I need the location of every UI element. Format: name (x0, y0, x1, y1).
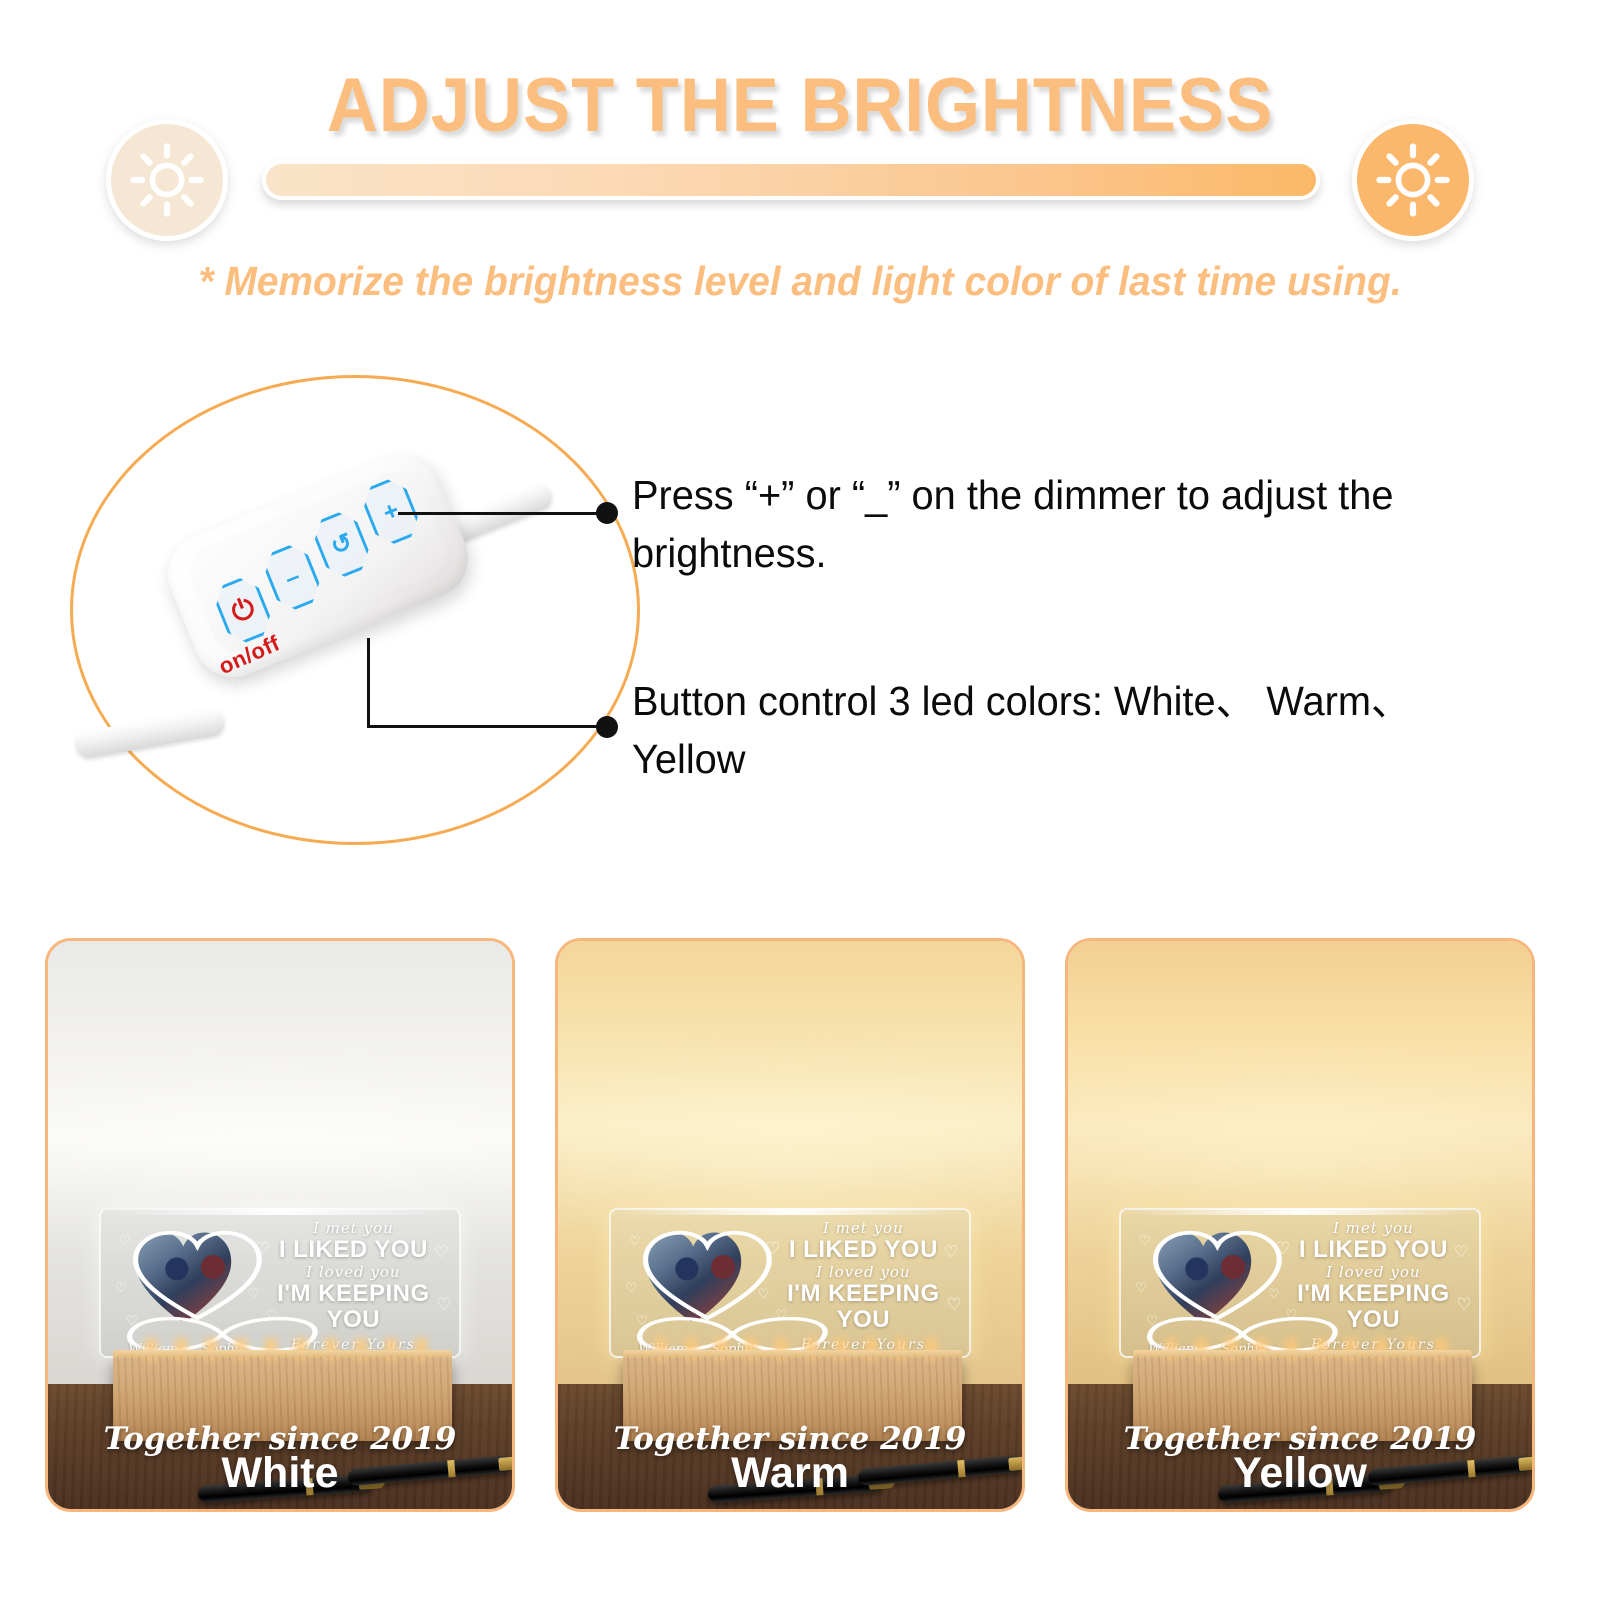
memory-note: * Memorize the brightness level and ligh… (40, 258, 1560, 305)
color-cycle-button[interactable]: ↺ (309, 507, 375, 582)
decor-heart-icon: ♡ (248, 1286, 260, 1302)
callout-ledcolors-text: Button control 3 led colors: White、 Warm… (632, 672, 1505, 788)
quote-line-3: I loved you (776, 1264, 951, 1281)
leader-line-color-horizontal (367, 725, 610, 728)
light-color-card-white[interactable]: ♡ ♡ ♡ ♡ ♡ ♡ ♡ ♡ William Sophie (45, 938, 515, 1512)
brightness-low-sun-icon (106, 119, 228, 241)
quote-line-1: I met you (776, 1220, 951, 1237)
plaque-quote: I met you I LIKED YOU I loved you I'M KE… (776, 1220, 951, 1349)
quote-line-2: I LIKED YOU (1286, 1237, 1461, 1263)
decor-heart-icon: ♡ (115, 1280, 127, 1296)
acrylic-plaque: ♡ ♡ ♡ ♡ ♡ ♡ ♡ ♡ William Sophie (609, 1208, 971, 1359)
acrylic-plaque: ♡ ♡ ♡ ♡ ♡ ♡ ♡ ♡ William Sophie (99, 1208, 461, 1359)
color-label-warm: Warm (558, 1449, 1022, 1498)
plaque-edge-glow (1128, 1208, 1472, 1215)
leader-line-plus (398, 512, 608, 515)
power-icon: ⏻ (228, 593, 259, 627)
color-cycle-icon: ↺ (327, 529, 356, 560)
quote-line-4: I'M KEEPING YOU (776, 1281, 951, 1334)
plaque-quote: I met you I LIKED YOU I loved you I'M KE… (266, 1220, 441, 1349)
quote-line-1: I met you (1286, 1220, 1461, 1237)
decor-heart-icon: ♡ (1139, 1233, 1151, 1249)
decor-heart-icon: ♡ (629, 1233, 641, 1249)
quote-line-2: I LIKED YOU (266, 1237, 441, 1263)
quote-line-1: I met you (266, 1220, 441, 1237)
light-color-card-warm[interactable]: ♡ ♡ ♡ ♡ ♡ ♡ ♡ ♡ William Sophie (555, 938, 1025, 1512)
page-title: ADJUST THE BRIGHTNESS (56, 62, 1544, 149)
cable-lower (74, 707, 226, 760)
header-section: ADJUST THE BRIGHTNESS (0, 0, 1600, 330)
plaque-edge-glow (108, 1208, 452, 1215)
decor-heart-icon: ♡ (119, 1233, 131, 1249)
dimmer-switch-photo: ⏻ – ↺ + on/off (95, 420, 555, 810)
product-photo-yellow: ♡ ♡ ♡ ♡ ♡ ♡ ♡ ♡ William Sophie (1068, 941, 1532, 1509)
brightness-slider[interactable] (262, 160, 1320, 200)
quote-line-3: I loved you (1286, 1264, 1461, 1281)
quote-line-4: I'M KEEPING YOU (1286, 1281, 1461, 1334)
plaque-quote: I met you I LIKED YOU I loved you I'M KE… (1286, 1220, 1461, 1349)
decor-heart-icon: ♡ (625, 1280, 637, 1296)
callout-brightness-text: Press “+” or “_” on the dimmer to adjust… (632, 466, 1505, 582)
minus-icon: – (281, 563, 303, 591)
quote-line-4: I'M KEEPING YOU (266, 1281, 441, 1334)
color-label-white: White (48, 1449, 512, 1498)
brightness-high-sun-icon (1352, 119, 1474, 241)
quote-line-3: I loved you (266, 1264, 441, 1281)
plaque-edge-glow (618, 1208, 962, 1215)
dimmer-switch-face: ⏻ – ↺ + on/off (181, 464, 453, 661)
light-color-gallery: ♡ ♡ ♡ ♡ ♡ ♡ ♡ ♡ William Sophie (0, 938, 1600, 1518)
infographic-page: ADJUST THE BRIGHTNESS (0, 0, 1600, 1600)
decor-heart-icon: ♡ (758, 1286, 770, 1302)
leader-line-color-vertical (367, 638, 370, 728)
quote-line-2: I LIKED YOU (776, 1237, 951, 1263)
leader-dot-plus (596, 502, 618, 524)
dimmer-section: ⏻ – ↺ + on/off (0, 360, 1600, 890)
dimmer-switch-body: ⏻ – ↺ + on/off (156, 443, 480, 689)
acrylic-plaque: ♡ ♡ ♡ ♡ ♡ ♡ ♡ ♡ William Sophie (1119, 1208, 1481, 1359)
light-color-card-yellow[interactable]: ♡ ♡ ♡ ♡ ♡ ♡ ♡ ♡ William Sophie (1065, 938, 1535, 1512)
leader-dot-color (596, 716, 618, 738)
minus-button[interactable]: – (259, 540, 325, 615)
decor-heart-icon: ♡ (1135, 1280, 1147, 1296)
color-label-yellow: Yellow (1068, 1449, 1532, 1498)
product-photo-white: ♡ ♡ ♡ ♡ ♡ ♡ ♡ ♡ William Sophie (48, 941, 512, 1509)
product-photo-warm: ♡ ♡ ♡ ♡ ♡ ♡ ♡ ♡ William Sophie (558, 941, 1022, 1509)
decor-heart-icon: ♡ (1268, 1286, 1280, 1302)
